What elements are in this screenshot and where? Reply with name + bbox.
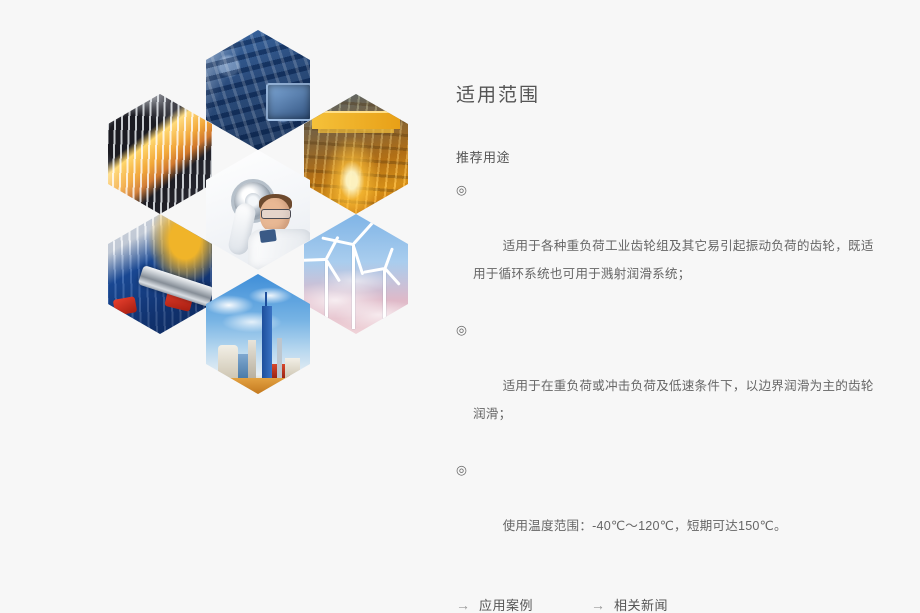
engineer-lab-coat	[248, 229, 310, 269]
plant-chimney-icon	[248, 340, 256, 378]
link-label: 相关新闻	[614, 599, 668, 612]
wind-turbine-icon	[352, 245, 355, 329]
hex-tile-steel-mill-molten-metal	[304, 94, 408, 214]
hex-tile-engineer-inspecting-bearing	[206, 150, 310, 270]
arrow-right-icon: →	[591, 598, 605, 612]
list-item-text: 适用于各种重负荷工业齿轮组及其它易引起振动负荷的齿轮，既适用于循环系统也可用于溅…	[473, 239, 874, 281]
plant-building-icon	[218, 345, 238, 379]
list-item: ◎ 适用于各种重负荷工业齿轮组及其它易引起振动负荷的齿轮，既适用于循环系统也可用…	[456, 176, 876, 316]
list-item: ◎ 适用于在重负荷或冲击负荷及低速条件下，以边界润滑为主的齿轮润滑；	[456, 316, 876, 456]
hex-tile-blue-machine-steel-shaft	[108, 214, 212, 334]
hex-tile-wind-turbines-sky	[304, 214, 408, 334]
engineer-bearing-image	[206, 150, 310, 270]
plant-drilling-tower-icon	[262, 306, 272, 378]
glasses-icon	[261, 209, 291, 219]
machine-shaft-image	[108, 214, 212, 334]
link-application-cases[interactable]: → 应用案例	[456, 598, 533, 612]
link-label: 应用案例	[479, 599, 533, 612]
plant-ground	[206, 378, 310, 394]
plant-building-icon	[285, 358, 300, 378]
wind-turbines-image	[304, 214, 408, 334]
list-item-text: 使用温度范围：-40℃～120℃，短期可达150℃。	[503, 519, 787, 533]
recommended-use-heading: 推荐用途	[456, 151, 876, 164]
plant-mast-icon	[277, 338, 282, 379]
page-title: 适用范围	[456, 86, 876, 105]
hex-tile-petrochemical-plant	[206, 274, 310, 394]
gears-oil-image	[108, 94, 212, 214]
link-related-news[interactable]: → 相关新闻	[591, 598, 668, 612]
machine-red-mount-secondary-icon	[113, 296, 137, 316]
wind-turbine-icon	[383, 269, 386, 329]
related-links: → 应用案例 → 相关新闻	[456, 598, 876, 612]
bullet-circle-icon: ◎	[456, 316, 467, 344]
hex-tile-gears-with-flowing-oil	[108, 94, 212, 214]
hexagon-image-collage	[96, 28, 420, 350]
bullet-circle-icon: ◎	[456, 176, 467, 204]
bullet-circle-icon: ◎	[456, 456, 467, 484]
product-application-section: 适用范围 推荐用途 ◎ 适用于各种重负荷工业齿轮组及其它易引起振动负荷的齿轮，既…	[0, 0, 920, 405]
machine-red-mount-icon	[164, 288, 194, 312]
application-text-panel: 适用范围 推荐用途 ◎ 适用于各种重负荷工业齿轮组及其它易引起振动负荷的齿轮，既…	[456, 86, 876, 612]
petrochemical-plant-image	[206, 274, 310, 394]
arrow-right-icon: →	[456, 598, 470, 612]
list-item-text: 适用于在重负荷或冲击负荷及低速条件下，以边界润滑为主的齿轮润滑；	[473, 379, 874, 421]
wind-turbine-icon	[325, 260, 328, 330]
industrial-machinery-image	[206, 30, 310, 150]
hex-tile-industrial-machinery-blue	[206, 30, 310, 150]
steel-mill-image	[304, 94, 408, 214]
list-item: ◎ 使用温度范围：-40℃～120℃，短期可达150℃。	[456, 456, 876, 568]
recommended-use-list: ◎ 适用于各种重负荷工业齿轮组及其它易引起振动负荷的齿轮，既适用于循环系统也可用…	[456, 176, 876, 568]
